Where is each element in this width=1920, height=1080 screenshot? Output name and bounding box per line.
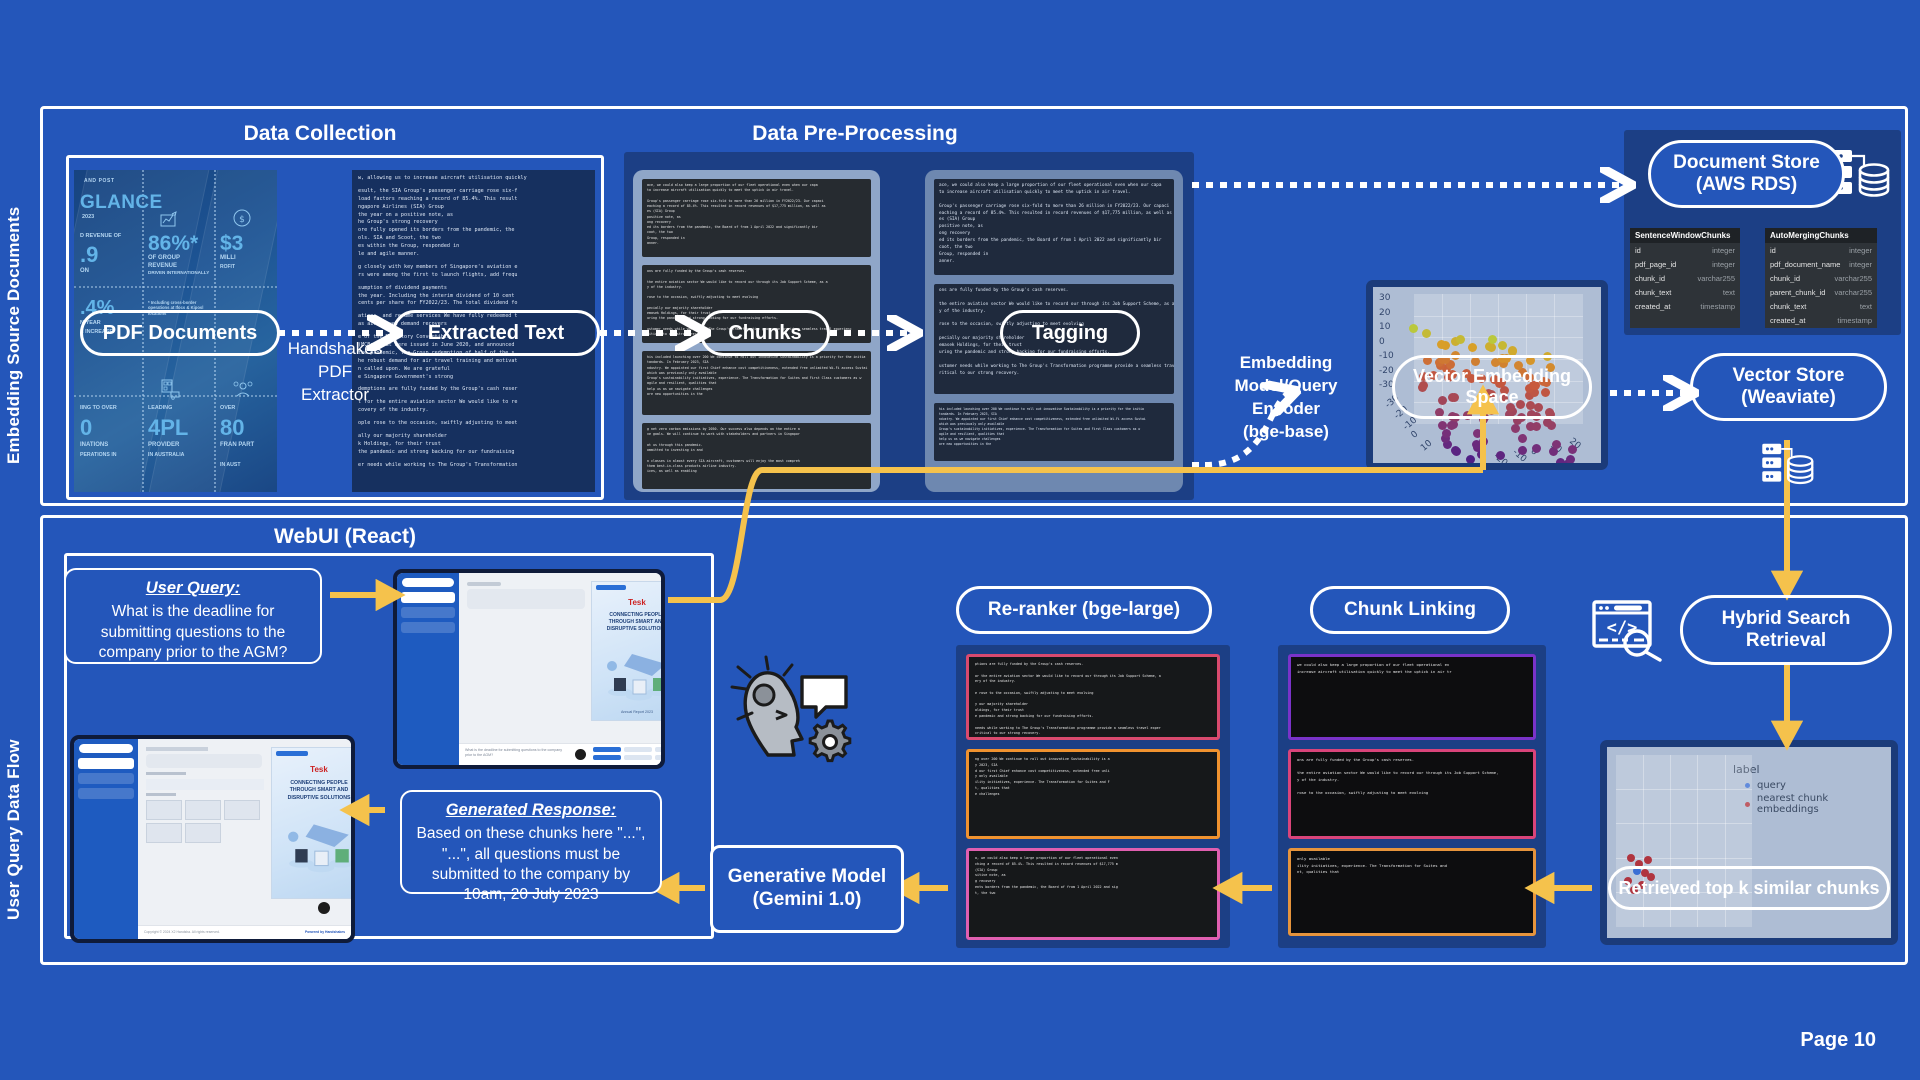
reranked-chunk-card: ptions are fully funded by the Group's c… <box>966 654 1220 740</box>
plot-tick-y: -10 <box>1379 351 1394 361</box>
retrieval-plot-legend: label querynearest chunk embeddings <box>1733 763 1891 817</box>
node-chunks[interactable]: Chunks <box>700 310 830 356</box>
text-line: esult, the SIA Group's passenger carriag… <box>358 188 589 259</box>
label-handshakes-pdf-extractor: Handshakes PDF Extractor <box>270 338 400 407</box>
embedding-point <box>1518 434 1527 443</box>
schema-row: parent_chunk_idvarchar255 <box>1765 285 1877 299</box>
schema-row: created_attimestamp <box>1765 313 1877 327</box>
svg-text:$: $ <box>239 215 245 225</box>
lane-label-userquery: User Query Data Flow <box>4 700 30 960</box>
user-query-text: What is the deadline for submitting ques… <box>99 603 288 660</box>
embedding-point <box>1466 455 1475 463</box>
node-vector-embedding-space[interactable]: Vector Embedding Space <box>1392 355 1592 419</box>
embedding-point <box>1498 341 1507 350</box>
lane-label-embedding: Embedding Source Documents <box>4 150 30 520</box>
section-title-preprocessing: Data Pre-Processing <box>680 122 1030 146</box>
embedding-point <box>1518 446 1527 455</box>
code-search-icon: </> <box>1592 600 1664 662</box>
plot-tick-y: -20 <box>1379 366 1394 376</box>
user-query-header: User Query: <box>76 578 310 599</box>
plot-tick-x: 10 <box>1419 438 1434 453</box>
plot-tick-y: 10 <box>1379 322 1390 332</box>
plot-tick-y: 30 <box>1379 293 1390 303</box>
embedding-point <box>1456 335 1465 344</box>
node-tagging[interactable]: Tagging <box>1000 310 1140 356</box>
embedding-point <box>1511 424 1520 433</box>
text-line: sumption of dividend payments the year. … <box>358 285 589 309</box>
embedding-point <box>1479 437 1488 446</box>
plot-tick-y: 0 <box>1379 337 1385 347</box>
nearest-chunk-point <box>1644 856 1652 864</box>
legend-item: query <box>1745 780 1891 791</box>
text-line: ople rose to the occasion, swiftly adjus… <box>358 420 589 428</box>
reranked-chunk-card: o, we could also keep a large proportion… <box>966 848 1220 940</box>
generated-response-header: Generated Response: <box>412 800 650 821</box>
page-number: Page 10 <box>1800 1029 1876 1052</box>
plot-tick-x: 0 <box>1409 429 1420 440</box>
database-server-icon-vector-store <box>1758 442 1820 492</box>
embedding-point <box>1473 429 1482 438</box>
node-extracted-text[interactable]: Extracted Text <box>392 310 600 356</box>
node-document-store[interactable]: Document Store (AWS RDS) <box>1648 140 1845 208</box>
schema-row: pdf_document_nameinteger <box>1765 257 1877 271</box>
schema-row: chunk_texttext <box>1630 285 1740 299</box>
schema-table-sentencewindowchunks: SentenceWindowChunks idintegerpdf_page_i… <box>1630 228 1740 328</box>
reranked-chunk-card: ng over 200 We continue to roll out inno… <box>966 749 1220 839</box>
text-line: er needs while working to The Group's Tr… <box>358 462 589 470</box>
chunk-card: his included launching over 200 We conti… <box>642 351 871 415</box>
embedding-point <box>1496 451 1505 460</box>
schema-table-automergingchunks: AutoMergingChunks idintegerpdf_document_… <box>1765 228 1877 328</box>
retrieval-plot: label querynearest chunk embeddings <box>1600 740 1898 945</box>
node-generative-model[interactable]: Generative Model (Gemini 1.0) <box>710 845 904 933</box>
plot-tick-y: 20 <box>1379 308 1390 318</box>
node-hybrid-search[interactable]: Hybrid Search Retrieval <box>1680 595 1892 665</box>
node-reranker[interactable]: Re-ranker (bge-large) <box>956 586 1212 634</box>
legend-title: label <box>1733 763 1891 776</box>
svg-text:</>: </> <box>1607 618 1638 638</box>
webui-mock-query[interactable]: Tesk CONNECTING PEOPLE THROUGH SMART AND… <box>393 569 665 769</box>
text-line: ally our majority shareholder k Holdings… <box>358 433 589 457</box>
node-pdf-documents[interactable]: PDF Documents <box>80 310 280 356</box>
diagram-canvas: Embedding Source Documents User Query Da… <box>0 0 1920 1080</box>
label-embedding-model: Embedding Model/Query Encoder (bge-base) <box>1196 352 1376 444</box>
chunk-linking-panel: we could also keep a large proportion of… <box>1278 645 1546 948</box>
text-line: g closely with key members of Singapore'… <box>358 264 589 280</box>
schema-row: chunk_idvarchar255 <box>1630 271 1740 285</box>
webui-mock-result[interactable]: Tesk CONNECTING PEOPLE THROUGH SMART AND… <box>70 735 355 943</box>
linked-chunk-card: we could also keep a large proportion of… <box>1288 654 1536 740</box>
embedding-point <box>1532 422 1541 431</box>
embedding-point <box>1468 343 1477 352</box>
chunk-card: g net zero carbon emissions by 2050. Our… <box>642 423 871 489</box>
embedding-point <box>1409 324 1418 333</box>
node-retrieved-chunks[interactable]: Retrieved top k similar chunks <box>1608 866 1890 910</box>
embedding-point <box>1566 455 1575 463</box>
generated-response-text: Based on these chunks here "...", "...",… <box>416 825 645 902</box>
legend-item: nearest chunk embeddings <box>1745 793 1891 815</box>
schema-row: idinteger <box>1765 243 1877 257</box>
section-title-data-collection: Data Collection <box>190 122 450 146</box>
embedding-point <box>1568 445 1577 454</box>
embedding-point <box>1488 335 1497 344</box>
linked-chunk-card: ons are fully funded by the Group's cash… <box>1288 749 1536 839</box>
schema-row: chunk_texttext <box>1765 299 1877 313</box>
schema-row: pdf_page_idinteger <box>1630 257 1740 271</box>
user-query-box: User Query: What is the deadline for sub… <box>64 568 322 664</box>
embedding-point <box>1532 444 1541 453</box>
node-chunk-linking[interactable]: Chunk Linking <box>1310 586 1510 634</box>
generated-response-box: Generated Response: Based on these chunk… <box>400 790 662 894</box>
section-title-webui: WebUI (React) <box>200 525 490 549</box>
ai-head-gear-icon <box>728 655 858 765</box>
chunk-card: ace, we could also keep a large proporti… <box>642 179 871 257</box>
schema-row: created_attimestamp <box>1630 299 1740 313</box>
reranker-panel: ptions are fully funded by the Group's c… <box>956 645 1230 948</box>
linked-chunk-card: only available ility initiatives, experi… <box>1288 848 1536 936</box>
schema-row: chunk_idvarchar255 <box>1765 271 1877 285</box>
tagged-chunk-card: his included launching over 200 We conti… <box>934 403 1174 461</box>
nearest-chunk-point <box>1627 854 1635 862</box>
schema-row: idinteger <box>1630 243 1740 257</box>
embedding-point <box>1442 429 1451 438</box>
text-line: w, allowing us to increase aircraft util… <box>358 175 589 183</box>
tagged-chunk-card: ace, we could also keep a large proporti… <box>934 179 1174 275</box>
node-vector-store[interactable]: Vector Store (Weaviate) <box>1690 353 1887 421</box>
